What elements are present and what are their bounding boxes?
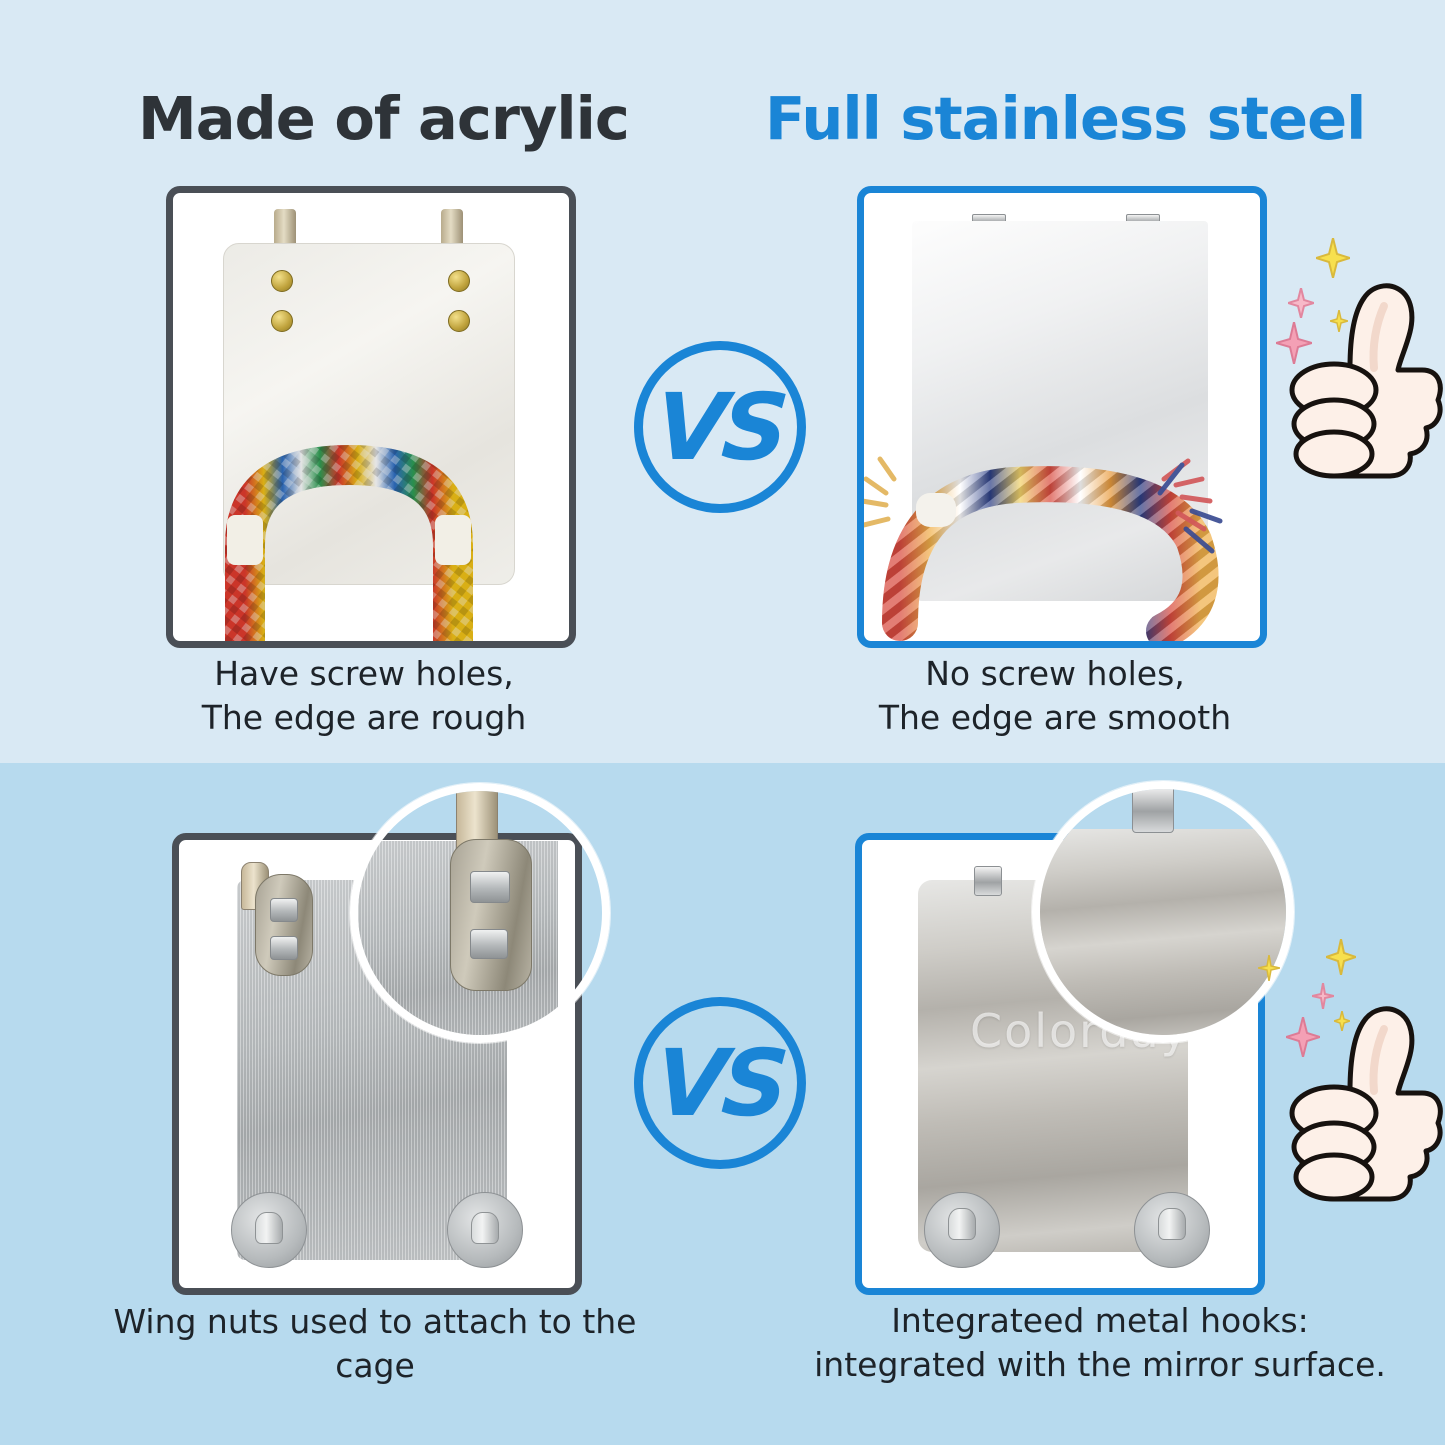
thumbs-up-icon [1272,951,1445,1251]
steel-mirror-artwork [864,193,1260,641]
sparkle-icon [1286,1017,1320,1061]
sparkle-icon [1276,322,1312,368]
vs-badge-top: VS [634,341,806,513]
rainbow-rope-perch [173,193,569,641]
bolt-icon [270,898,298,922]
vs-badge-bottom: VS [634,997,806,1169]
bottom-comparison-section: Colorday VS [0,763,1445,1445]
hook-mount-plate [450,839,532,991]
sparkle-icon [1312,983,1334,1013]
fluffy-rope-perch [864,193,1260,641]
caption-line: Integrateed metal hooks: [800,1299,1400,1343]
heading-full-stainless-steel: Full stainless steel [765,84,1365,153]
caption-line: Wing nuts used to attach to the cage [90,1300,660,1387]
integrated-hook-icon [974,866,1002,896]
wing-nut-icon [255,1212,283,1244]
sparkle-icon [1316,238,1350,282]
sparkle-icon [1334,1011,1350,1035]
detail-magnifier-circle [1032,781,1294,1043]
thumbs-up-icon [1272,228,1445,528]
photo-acrylic-front [166,186,576,648]
top-comparison-section: Made of acrylic Full stainless steel [0,0,1445,763]
caption-line: integrated with the mirror surface. [800,1343,1400,1387]
hook-mount-plate [255,874,313,976]
vs-label: VS [653,374,788,481]
wing-nut-icon [1158,1208,1186,1240]
heading-made-of-acrylic: Made of acrylic [138,84,629,153]
integrated-hook-icon [1132,785,1174,833]
sparkle-icon [1288,288,1314,322]
sparkle-icon [1326,939,1356,979]
acrylic-mirror-artwork [173,193,569,641]
bolt-icon [470,929,508,959]
vs-label: VS [653,1030,788,1137]
wing-nut-icon [948,1208,976,1240]
wing-nut-icon [471,1212,499,1244]
caption-line: No screw holes, [855,652,1255,696]
caption-line: The edge are smooth [855,696,1255,740]
photo-steel-front [857,186,1267,648]
caption-line: Have screw holes, [164,652,564,696]
sparkle-icon [1330,310,1348,336]
detail-magnifier-circle [350,783,610,1043]
bolt-icon [470,871,510,903]
caption-line: The edge are rough [164,696,564,740]
bolt-icon [270,936,298,960]
